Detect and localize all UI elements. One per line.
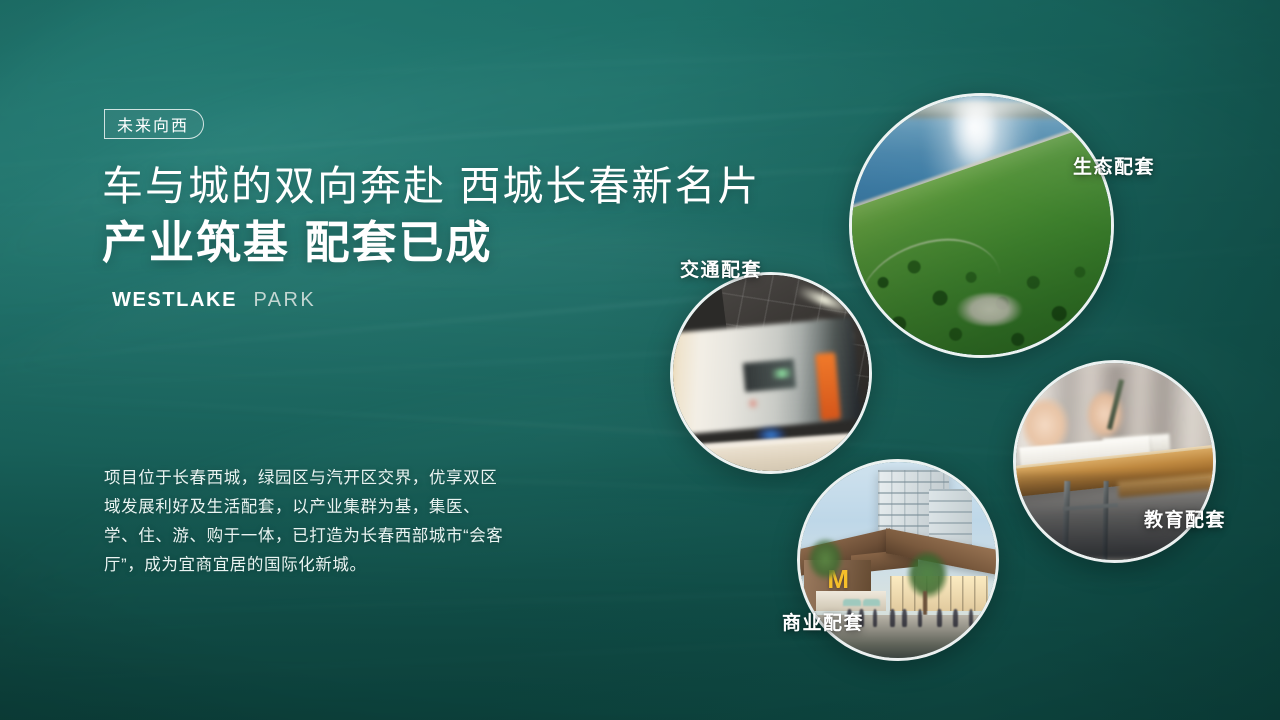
feature-label-education: 教育配套 [1144,505,1226,532]
brand-primary: WESTLAKE [112,289,237,311]
feature-label-commerce: 商业配套 [782,608,864,635]
feature-circle-education[interactable] [1013,360,1216,563]
transport-photo [673,275,869,471]
feature-circle-ecology[interactable] [849,93,1114,358]
brand-wordmark: WESTLAKE PARK [112,289,316,312]
transport-tail-light [747,397,759,411]
feature-label-transport: 交通配套 [680,255,762,282]
eco-shading [852,96,1111,355]
poster-canvas: 未来向西 车与城的双向奔赴 西城长春新名片 产业筑基 配套已成 WESTLAKE… [0,0,1280,720]
eyebrow-badge: 未来向西 [104,109,204,139]
description-paragraph: 项目位于长春西城，绿园区与汽开区交界，优享双区域发展利好及生活配套，以产业集群为… [104,464,504,580]
feature-circle-transport[interactable] [670,272,872,474]
education-hand-right [1087,391,1126,442]
feature-label-ecology: 生态配套 [1073,152,1155,179]
brand-secondary: PARK [253,289,316,311]
headline-line-2: 产业筑基 配套已成 [102,206,493,271]
eyebrow-badge-label: 未来向西 [117,112,189,136]
ecology-photo [852,96,1111,355]
headline-line-1: 车与城的双向奔赴 西城长春新名片 [102,152,760,212]
